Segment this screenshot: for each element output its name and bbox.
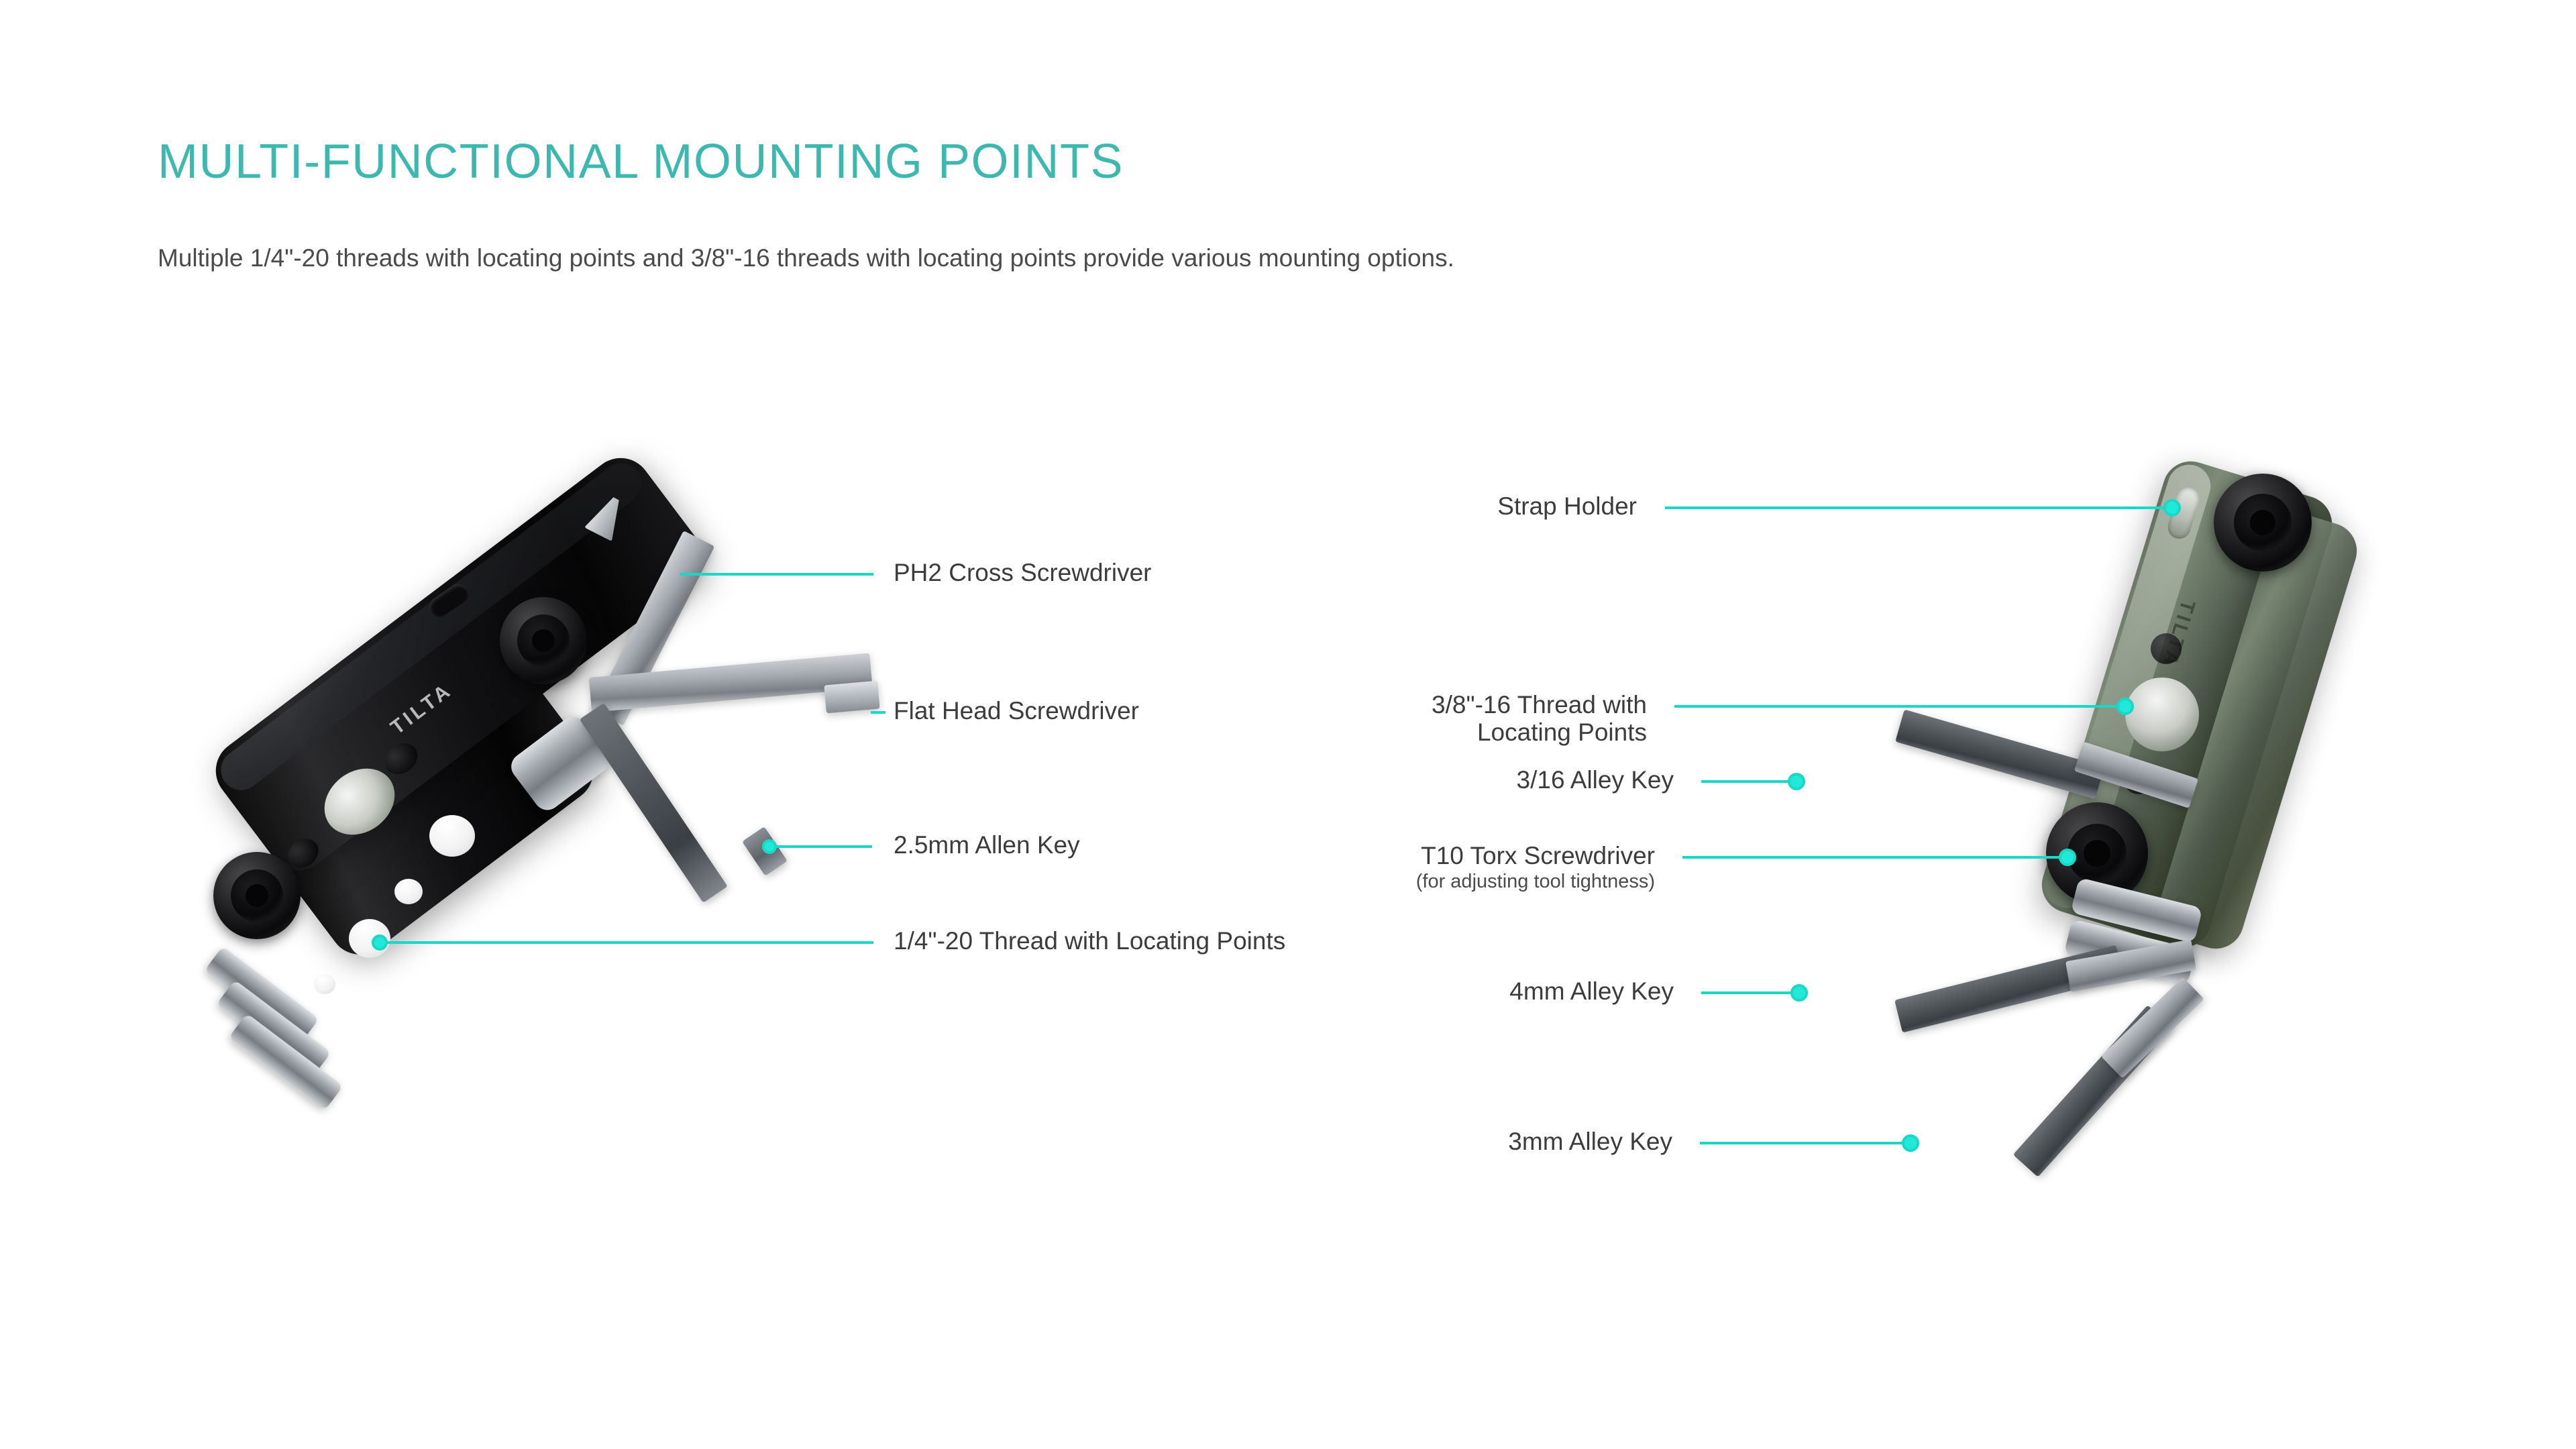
flat-head-tip: [824, 681, 879, 714]
callout-label: PH2 Cross Screwdriver: [894, 559, 1151, 586]
callout-label: 3mm Alley Key: [1508, 1128, 1672, 1155]
left-product-illustration: TILTA: [0, 0, 939, 1449]
callout-label: Strap Holder: [1497, 492, 1637, 520]
tool-shank: [2101, 977, 2204, 1078]
alley-key-3-16-blade: [1895, 710, 2104, 800]
callout-label: 4mm Alley Key: [1509, 977, 1674, 1005]
lightening-hole: [394, 879, 423, 904]
locating-point-hole: [2151, 633, 2182, 664]
callout-label: Flat Head Screwdriver: [894, 697, 1139, 724]
pivot-bolt-lower: [213, 852, 301, 939]
pivot-bolt-upper: [500, 597, 587, 684]
lightening-hole: [349, 919, 390, 958]
callout-label: 1/4"-20 Thread with Locating Points: [894, 927, 1285, 955]
callout-alley-key-3-16: 3/16 Alley Key: [1301, 766, 1674, 794]
allen-key-2-5mm-blade: [580, 703, 728, 903]
pivot-bolt-top-right: [2214, 474, 2312, 572]
callout-alley-key-3mm: 3mm Alley Key: [1301, 1128, 1672, 1155]
three-eighths-thread-hole: [2125, 678, 2199, 751]
callout-label: 3/8"-16 Thread with: [1432, 691, 1647, 718]
slide-canvas: MULTI-FUNCTIONAL MOUNTING POINTS Multipl…: [0, 0, 2576, 1449]
callout-label: 3/16 Alley Key: [1517, 766, 1674, 794]
allen-key-2-5mm-tip: [742, 826, 788, 876]
callout-quarter-twenty-thread: 1/4"-20 Thread with Locating Points: [894, 927, 1285, 955]
callout-allen-key-2-5mm: 2.5mm Allen Key: [894, 831, 1080, 859]
lightening-hole: [429, 815, 475, 857]
callout-label: T10 Torx Screwdriver: [1421, 842, 1655, 869]
callout-label: 2.5mm Allen Key: [894, 831, 1080, 859]
callout-alley-key-4mm: 4mm Alley Key: [1301, 977, 1674, 1005]
callout-three-eighths-thread: 3/8"-16 Thread with Locating Points: [1301, 691, 1647, 747]
callout-flat-head-screwdriver: Flat Head Screwdriver: [894, 697, 1139, 724]
callout-t10-torx-screwdriver: T10 Torx Screwdriver (for adjusting tool…: [1301, 842, 1655, 894]
lightening-hole: [314, 974, 335, 994]
callout-ph2-cross-screwdriver: PH2 Cross Screwdriver: [894, 559, 1151, 586]
callout-label-line2: Locating Points: [1477, 718, 1647, 746]
callout-sublabel: (for adjusting tool tightness): [1301, 869, 1655, 894]
right-product-illustration: TILTA: [1610, 0, 2576, 1449]
callout-strap-holder: Strap Holder: [1301, 492, 1637, 520]
